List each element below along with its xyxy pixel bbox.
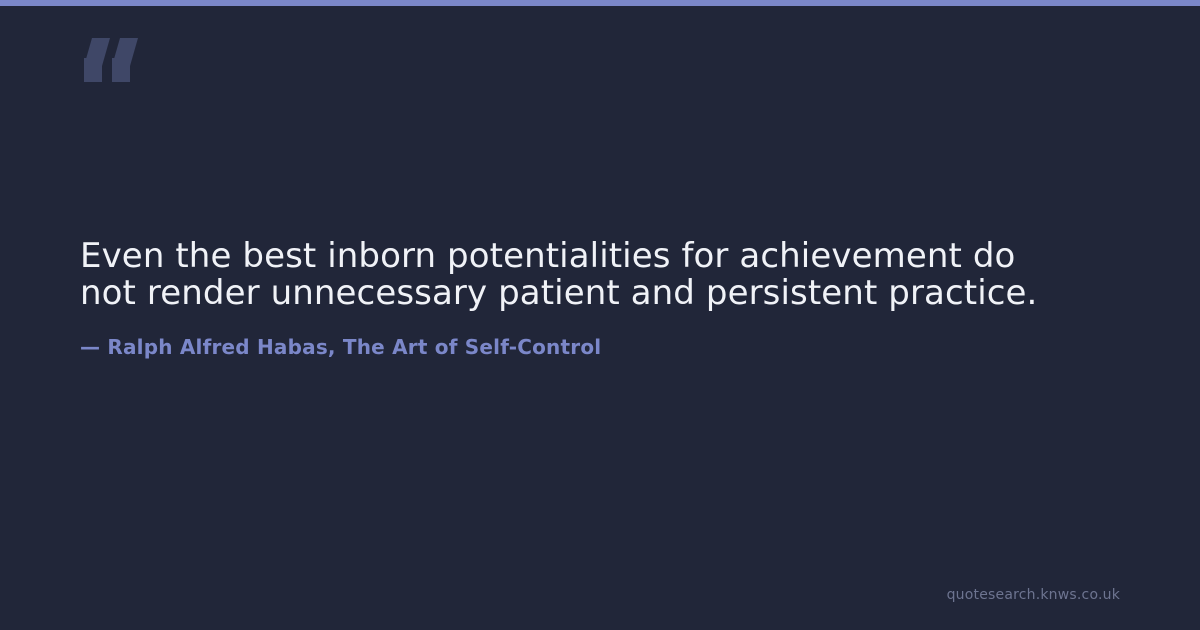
top-accent-bar — [0, 0, 1200, 6]
quote-content: Even the best inborn potentialities for … — [80, 238, 1120, 360]
open-quote-icon — [80, 38, 140, 82]
quote-card: Even the best inborn potentialities for … — [0, 0, 1200, 630]
site-watermark: quotesearch.knws.co.uk — [947, 586, 1120, 604]
quote-attribution: — Ralph Alfred Habas, The Art of Self-Co… — [80, 312, 1120, 360]
quote-text: Even the best inborn potentialities for … — [80, 238, 1040, 312]
